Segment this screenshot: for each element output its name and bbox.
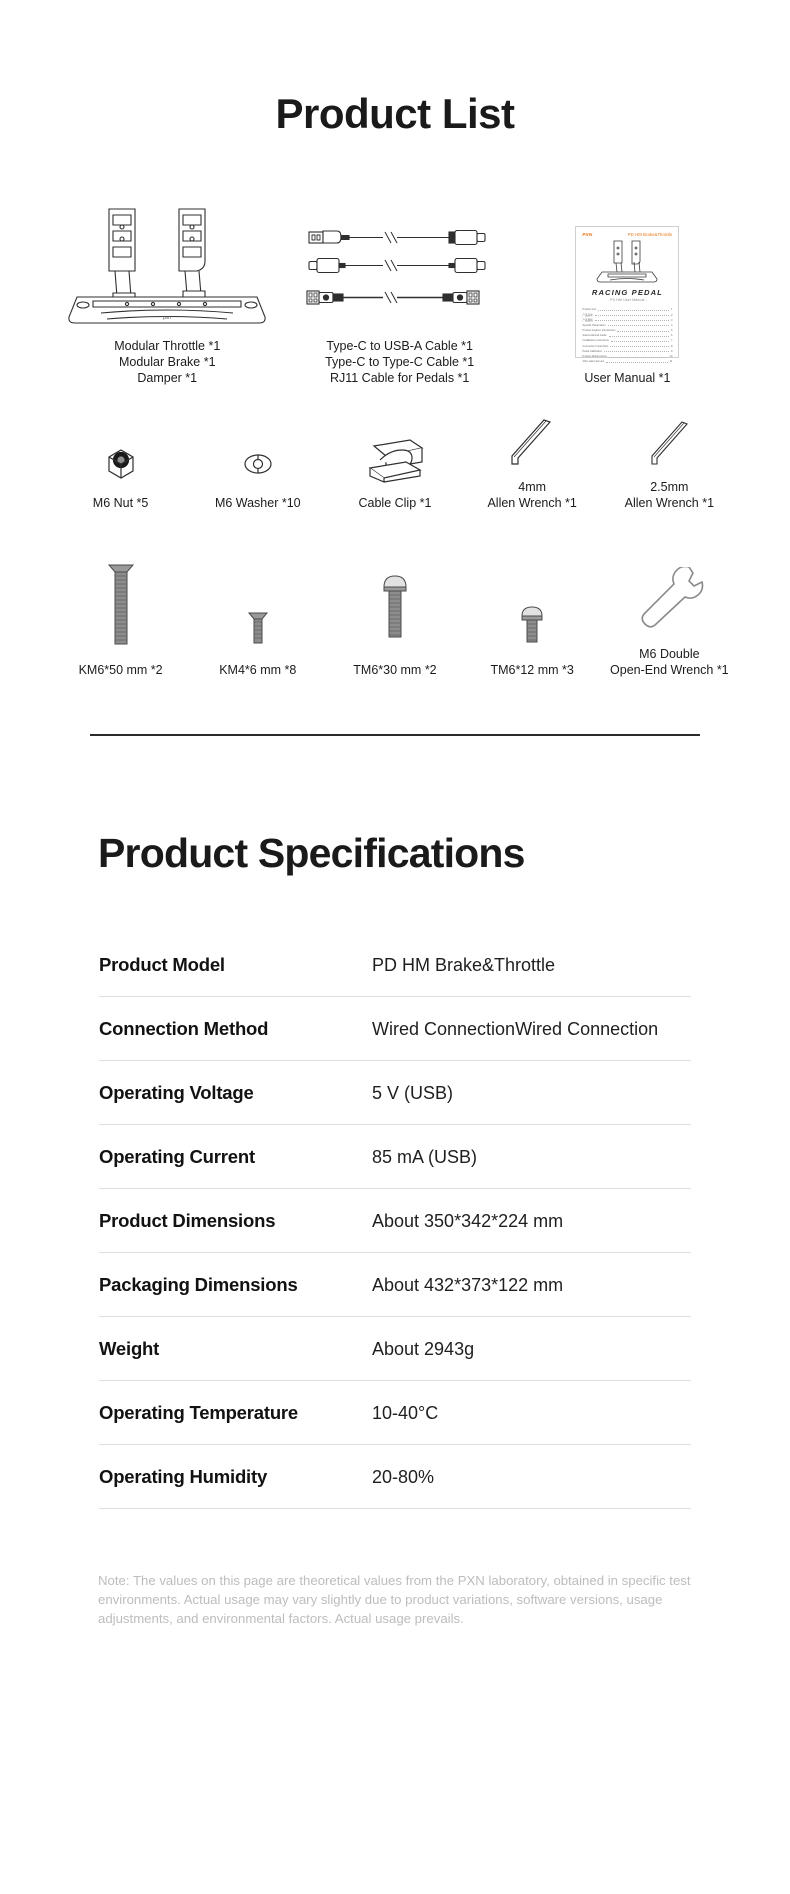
spec-key: Operating Voltage: [99, 1082, 372, 1104]
manual-toc-leader: [610, 344, 669, 347]
product-list-row-screws: KM6*50 mm *2 KM4*6 mm *8: [52, 541, 738, 678]
section-divider: [90, 734, 700, 736]
manual-toc-label: Installation Instructions: [582, 339, 608, 342]
list-item-allen-wrench-2p5mm: 2.5mm Allen Wrench *1: [601, 414, 738, 511]
spec-value: 85 mA (USB): [372, 1145, 691, 1169]
manual-toc-page: 8: [671, 345, 672, 348]
manual-toc-leader: [598, 308, 669, 311]
product-list-row-hardware: M6 Nut *5 M6 Washer *10: [52, 414, 738, 511]
manual-table-of-contents: Product List1产品清单2产品规格3Specific Paramete…: [582, 307, 672, 364]
list-item-caption: KM6*50 mm *2: [79, 662, 163, 678]
manual-toc-leader: [595, 313, 669, 316]
manual-toc-label: Status Manual Guide: [582, 334, 606, 337]
manual-cover: PXN PD HM Brake&Throttle: [575, 226, 679, 358]
cables-illustration: [305, 192, 495, 324]
list-item-caption: Type-C to USB-A Cable *1 Type-C to Type-…: [325, 338, 474, 386]
page-title-specifications: Product Specifications: [0, 770, 790, 899]
specifications-table: Product ModelPD HM Brake&ThrottleConnect…: [99, 933, 691, 1509]
spec-value: 20-80%: [372, 1465, 691, 1489]
bottom-spacer: [0, 1628, 790, 1758]
spec-row: Operating Temperature10-40°C: [99, 1381, 691, 1445]
manual-toc-page: 10: [670, 355, 673, 358]
spec-key: Operating Temperature: [99, 1402, 372, 1424]
manual-toc-leader: [595, 318, 669, 321]
spec-key: Connection Method: [99, 1018, 372, 1040]
product-list-row-main: pxn Modular Throttle *1 Modular Brake *1…: [52, 176, 738, 386]
list-item-caption: TM6*12 mm *3: [490, 662, 573, 678]
spec-row: Operating Current85 mA (USB): [99, 1125, 691, 1189]
manual-toc-page: 3: [671, 319, 672, 322]
m6-nut-icon: [100, 430, 142, 486]
spec-row: Packaging DimensionsAbout 432*373*122 mm: [99, 1253, 691, 1317]
product-list-grid: pxn Modular Throttle *1 Modular Brake *1…: [0, 176, 790, 678]
spec-value: PD HM Brake&Throttle: [372, 953, 691, 977]
list-item-caption: KM4*6 mm *8: [219, 662, 296, 678]
spec-key: Operating Current: [99, 1146, 372, 1168]
screw-tm6-12-icon: [512, 557, 552, 653]
manual-toc-leader: [608, 323, 669, 326]
m6-washer-icon: [237, 430, 279, 486]
screw-km6-50-icon: [101, 557, 141, 653]
product-page: Product List: [0, 28, 790, 1758]
manual-toc-page: 4: [671, 324, 672, 327]
list-item-screw-km6-50: KM6*50 mm *2: [52, 557, 189, 678]
spec-key: Packaging Dimensions: [99, 1274, 372, 1296]
allen-wrench-2p5mm-icon: [639, 414, 699, 470]
manual-toc-leader: [606, 360, 668, 363]
list-item-screw-tm6-12: TM6*12 mm *3: [464, 557, 601, 678]
manual-toc-label: Specific Parameters: [582, 324, 605, 327]
list-item-pedal-set: pxn Modular Throttle *1 Modular Brake *1…: [52, 197, 283, 386]
manual-toc-label: 产品规格: [582, 318, 592, 322]
svg-text:pxn: pxn: [162, 315, 171, 321]
manual-toc-page: 9: [671, 350, 672, 353]
manual-toc-label: Connection Instruction: [582, 345, 608, 348]
list-item-caption: User Manual *1: [584, 370, 670, 386]
list-item-screw-tm6-30: TM6*30 mm *2: [326, 557, 463, 678]
manual-cover-pedal-icon: [582, 237, 672, 287]
spec-value: Wired ConnectionWired Connection: [372, 1017, 691, 1041]
spec-row: Product ModelPD HM Brake&Throttle: [99, 933, 691, 997]
footer-note: Note: The values on this page are theore…: [98, 1571, 692, 1628]
manual-toc-page: 5: [671, 329, 672, 332]
manual-toc-leader: [611, 339, 669, 342]
manual-toc-label: After-sales Service: [582, 360, 604, 363]
manual-toc-label: 产品清单: [582, 313, 592, 317]
pedal-set-illustration: pxn: [67, 197, 267, 329]
spec-row: Product DimensionsAbout 350*342*224 mm: [99, 1189, 691, 1253]
spec-value: 5 V (USB): [372, 1081, 691, 1105]
manual-toc-label: Pedal Calibration: [582, 350, 602, 353]
manual-toc-label: Product Maintenance: [582, 355, 607, 358]
manual-toc-leader: [609, 355, 668, 358]
list-item-open-end-wrench: M6 Double Open-End Wrench *1: [601, 541, 738, 678]
list-item-caption: Cable Clip *1: [358, 495, 431, 511]
spec-row: WeightAbout 2943g: [99, 1317, 691, 1381]
manual-toc-page: 7: [671, 339, 672, 342]
screw-km4-6-icon: [238, 557, 278, 653]
list-item-caption: 4mm Allen Wrench *1: [487, 479, 576, 511]
spec-key: Operating Humidity: [99, 1466, 372, 1488]
list-item-cables: Type-C to USB-A Cable *1 Type-C to Type-…: [283, 192, 517, 386]
list-item-caption: Modular Throttle *1 Modular Brake *1 Dam…: [114, 338, 220, 386]
list-item-user-manual: PXN PD HM Brake&Throttle: [517, 226, 738, 386]
list-item-caption: 2.5mm Allen Wrench *1: [625, 479, 714, 511]
spec-row: Operating Humidity20-80%: [99, 1445, 691, 1509]
list-item-caption: TM6*30 mm *2: [353, 662, 436, 678]
manual-toc-page: 11: [670, 360, 673, 363]
open-end-wrench-icon: [631, 541, 707, 637]
spec-value: About 350*342*224 mm: [372, 1209, 691, 1233]
manual-toc-page: 1: [671, 308, 672, 311]
user-manual-illustration: PXN PD HM Brake&Throttle: [575, 226, 679, 358]
allen-wrench-4mm-icon: [502, 414, 562, 470]
page-title-product-list: Product List: [0, 28, 790, 148]
manual-toc-leader: [617, 329, 669, 332]
spec-key: Product Model: [99, 954, 372, 976]
manual-cover-title: RACING PEDAL: [582, 288, 672, 297]
spec-value: 10-40°C: [372, 1401, 691, 1425]
manual-toc-label: Product Feature Introduction: [582, 329, 615, 332]
list-item-allen-wrench-4mm: 4mm Allen Wrench *1: [464, 414, 601, 511]
manual-toc-label: Product List: [582, 308, 596, 311]
list-item-caption: M6 Double Open-End Wrench *1: [610, 646, 729, 678]
manual-toc-leader: [609, 334, 669, 337]
spec-key: Weight: [99, 1338, 372, 1360]
list-item-caption: M6 Nut *5: [93, 495, 149, 511]
spec-value: About 2943g: [372, 1337, 691, 1361]
manual-toc-line: After-sales Service11: [582, 359, 672, 364]
spec-key: Product Dimensions: [99, 1210, 372, 1232]
screw-tm6-30-icon: [375, 557, 415, 653]
list-item-caption: M6 Washer *10: [215, 495, 301, 511]
manual-toc-leader: [604, 349, 669, 352]
list-item-m6-nut: M6 Nut *5: [52, 414, 189, 511]
list-item-cable-clip: Cable Clip *1: [326, 414, 463, 511]
list-item-screw-km4-6: KM4*6 mm *8: [189, 557, 326, 678]
cable-clip-icon: [360, 430, 430, 486]
spec-row: Connection MethodWired ConnectionWired C…: [99, 997, 691, 1061]
manual-toc-page: 6: [671, 334, 672, 337]
manual-toc-page: 2: [671, 314, 672, 317]
spec-row: Operating Voltage5 V (USB): [99, 1061, 691, 1125]
spec-value: About 432*373*122 mm: [372, 1273, 691, 1297]
manual-cover-subtitle: - PD HM User Manual -: [582, 298, 672, 302]
list-item-m6-washer: M6 Washer *10: [189, 414, 326, 511]
